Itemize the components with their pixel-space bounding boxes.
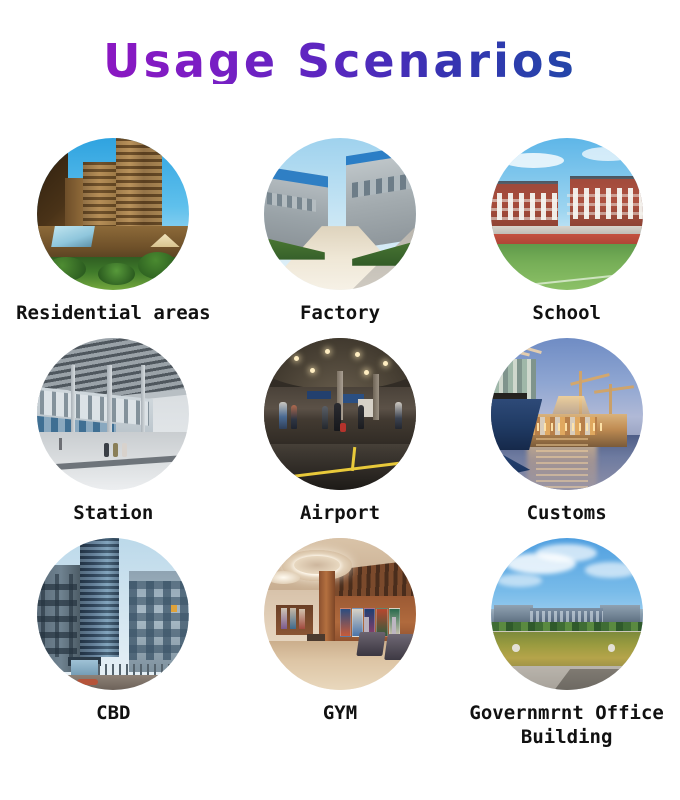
scenario-label-gym: GYM xyxy=(323,702,357,726)
scenario-label-government-office-building: Governmrnt Office Building xyxy=(442,702,680,750)
scenario-row-1: Residential areas xyxy=(0,138,680,338)
scenario-card-airport[interactable]: Airport xyxy=(227,338,454,538)
scenario-card-station[interactable]: Station xyxy=(0,338,227,538)
wall-poster xyxy=(299,609,305,629)
sports-field xyxy=(491,244,643,290)
scenario-image-school xyxy=(491,138,643,290)
ceiling-light xyxy=(383,361,388,366)
scenario-card-school[interactable]: School xyxy=(453,138,680,338)
school-windows-right xyxy=(567,188,643,218)
scenario-image-customs xyxy=(491,338,643,490)
glass-canopy xyxy=(51,226,94,247)
scenario-card-factory[interactable]: Factory xyxy=(227,138,454,338)
scenario-grid: Residential areas xyxy=(0,138,680,768)
scenario-label-airport: Airport xyxy=(300,502,380,526)
scenario-image-gym xyxy=(264,538,416,690)
office-windows-left xyxy=(37,574,77,656)
window-accent-panel xyxy=(171,605,177,613)
page-title: Usage Scenarios xyxy=(103,38,577,84)
information-sign xyxy=(307,391,331,399)
parked-car xyxy=(77,679,98,685)
dock-lights xyxy=(530,423,603,431)
scenario-image-airport xyxy=(264,338,416,490)
scenario-image-cbd xyxy=(37,538,189,690)
scenario-image-factory xyxy=(264,138,416,290)
weight-bench xyxy=(307,634,325,642)
cloud-shape xyxy=(497,574,543,586)
scenario-card-government-office-building[interactable]: Governmrnt Office Building xyxy=(453,538,680,768)
cloud-shape xyxy=(585,562,637,577)
terminal-column xyxy=(373,374,378,426)
scenario-image-government-office-building xyxy=(491,538,643,690)
wall-poster xyxy=(290,608,296,629)
wall-poster xyxy=(281,608,287,629)
glass-tower xyxy=(80,538,120,657)
passenger-figure xyxy=(358,405,364,429)
scenario-label-factory: Factory xyxy=(300,302,380,326)
scenario-image-residential-areas xyxy=(37,138,189,290)
scenario-card-residential-areas[interactable]: Residential areas xyxy=(0,138,227,338)
scenario-label-residential-areas: Residential areas xyxy=(16,302,210,326)
ceiling-light xyxy=(325,349,330,354)
support-column xyxy=(71,365,76,432)
scenario-label-station: Station xyxy=(73,502,153,526)
scenario-image-station xyxy=(37,338,189,490)
garden-shrub xyxy=(46,257,86,281)
scenario-row-3: CBD xyxy=(0,538,680,768)
ceiling-light xyxy=(355,352,360,357)
treadmill xyxy=(357,632,386,656)
scenario-label-customs: Customs xyxy=(527,502,607,526)
passenger-figure xyxy=(279,402,287,429)
support-column xyxy=(141,365,146,432)
water-reflection xyxy=(536,438,588,490)
person-figure xyxy=(113,443,118,457)
secondary-ceiling-light xyxy=(267,571,300,583)
scenario-card-cbd[interactable]: CBD xyxy=(0,538,227,768)
suitcase xyxy=(340,423,346,432)
school-windows-left xyxy=(491,193,558,220)
scenario-card-gym[interactable]: GYM xyxy=(227,538,454,768)
scenario-label-school: School xyxy=(532,302,601,326)
stone-sphere-ornament xyxy=(512,644,520,652)
scenario-label-cbd: CBD xyxy=(96,702,130,726)
support-column xyxy=(107,365,112,432)
page-title-container: Usage Scenarios xyxy=(0,38,680,84)
scenario-row-2: Station xyxy=(0,338,680,538)
floor-reflection xyxy=(264,444,416,490)
office-windows-right xyxy=(129,581,190,660)
street-ground xyxy=(37,675,189,690)
passenger-figure xyxy=(322,406,328,429)
passenger-figure xyxy=(395,402,402,429)
garden-shrub xyxy=(98,263,134,286)
cloud-shape xyxy=(582,147,634,161)
person-figure xyxy=(59,438,63,450)
person-figure xyxy=(122,443,127,457)
scenario-card-customs[interactable]: Customs xyxy=(453,338,680,538)
treadmill xyxy=(384,634,413,660)
person-figure xyxy=(104,443,109,457)
passenger-figure xyxy=(291,405,297,429)
usage-scenarios-page: Usage Scenarios xyxy=(0,0,680,800)
wall-poster xyxy=(340,608,351,637)
